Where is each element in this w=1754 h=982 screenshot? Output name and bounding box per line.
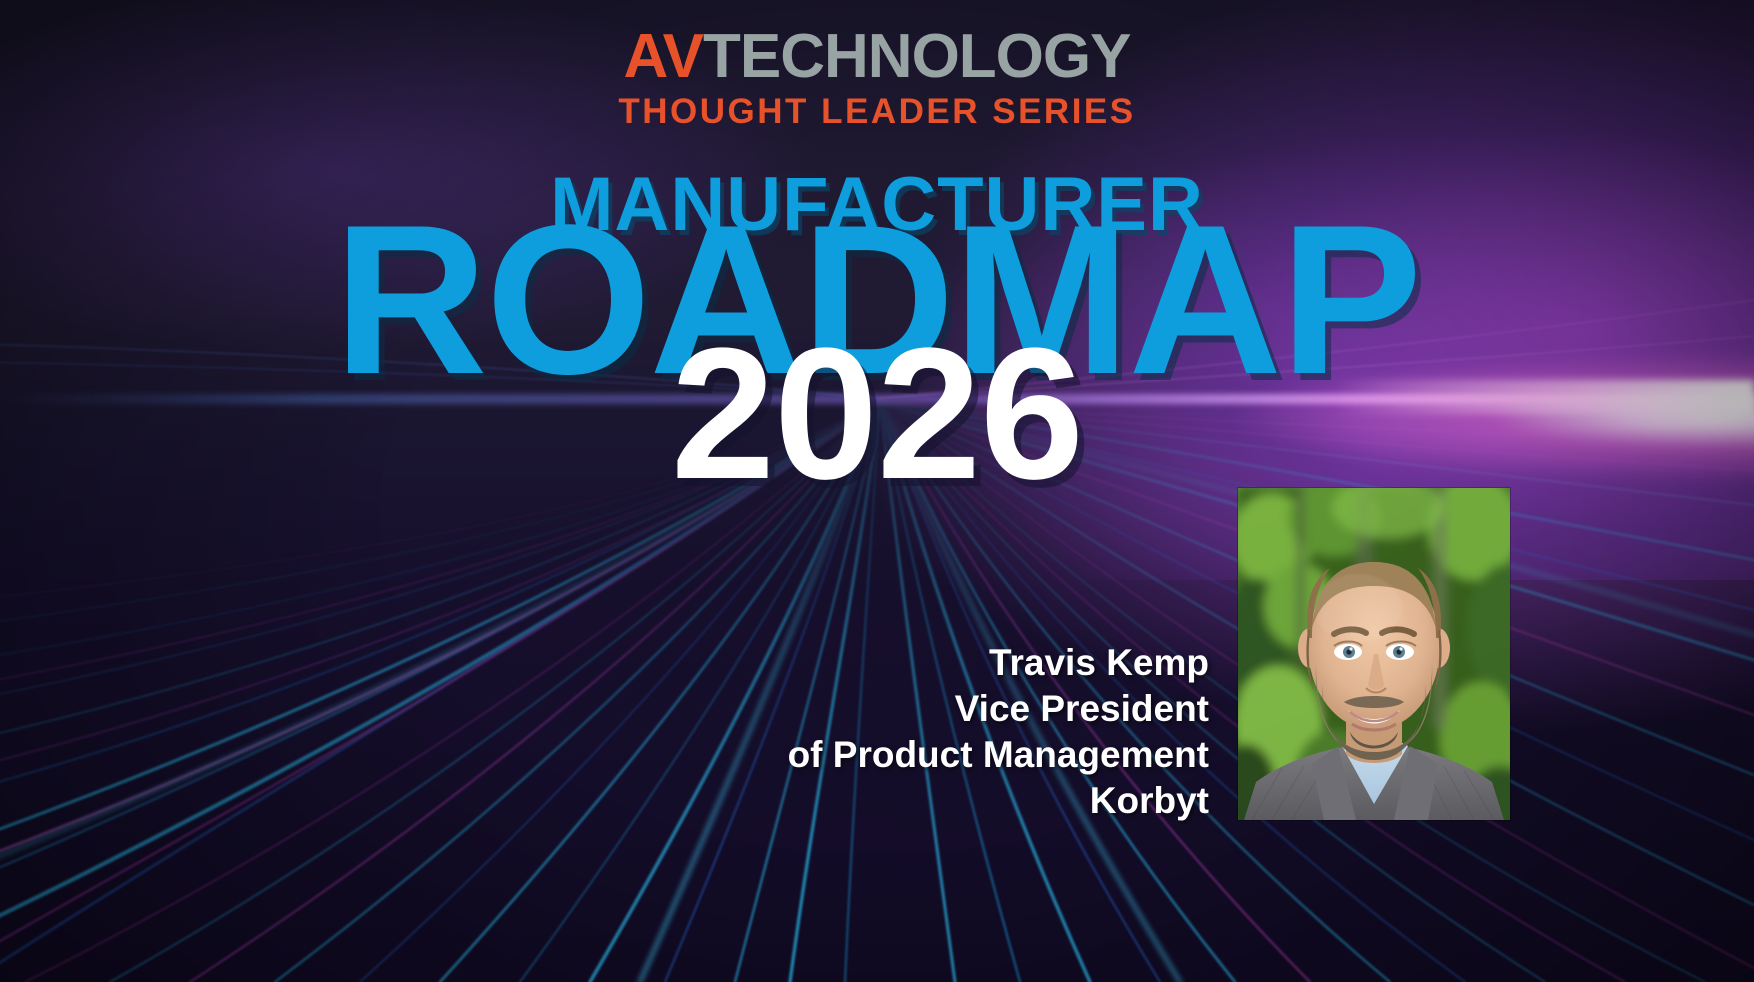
speaker-photo (1238, 488, 1510, 820)
series-label: THOUGHT LEADER SERIES (0, 94, 1754, 129)
logo-technology-text: TECHNOLOGY (703, 22, 1130, 91)
speaker-company: Korbyt (788, 778, 1209, 824)
title-year: 2026 (0, 320, 1754, 507)
speaker-title-line-2: of Product Management (788, 732, 1209, 778)
speaker-info: Travis Kemp Vice President of Product Ma… (788, 640, 1209, 824)
brand-logo: AVTECHNOLOGY THOUGHT LEADER SERIES (0, 26, 1754, 129)
speaker-title-line-1: Vice President (788, 686, 1209, 732)
speaker-name: Travis Kemp (788, 640, 1209, 686)
slide-canvas: AVTECHNOLOGY THOUGHT LEADER SERIES MANUF… (0, 0, 1754, 982)
logo-av-text: AV (624, 22, 704, 91)
logo-wordmark: AVTECHNOLOGY (0, 26, 1754, 88)
